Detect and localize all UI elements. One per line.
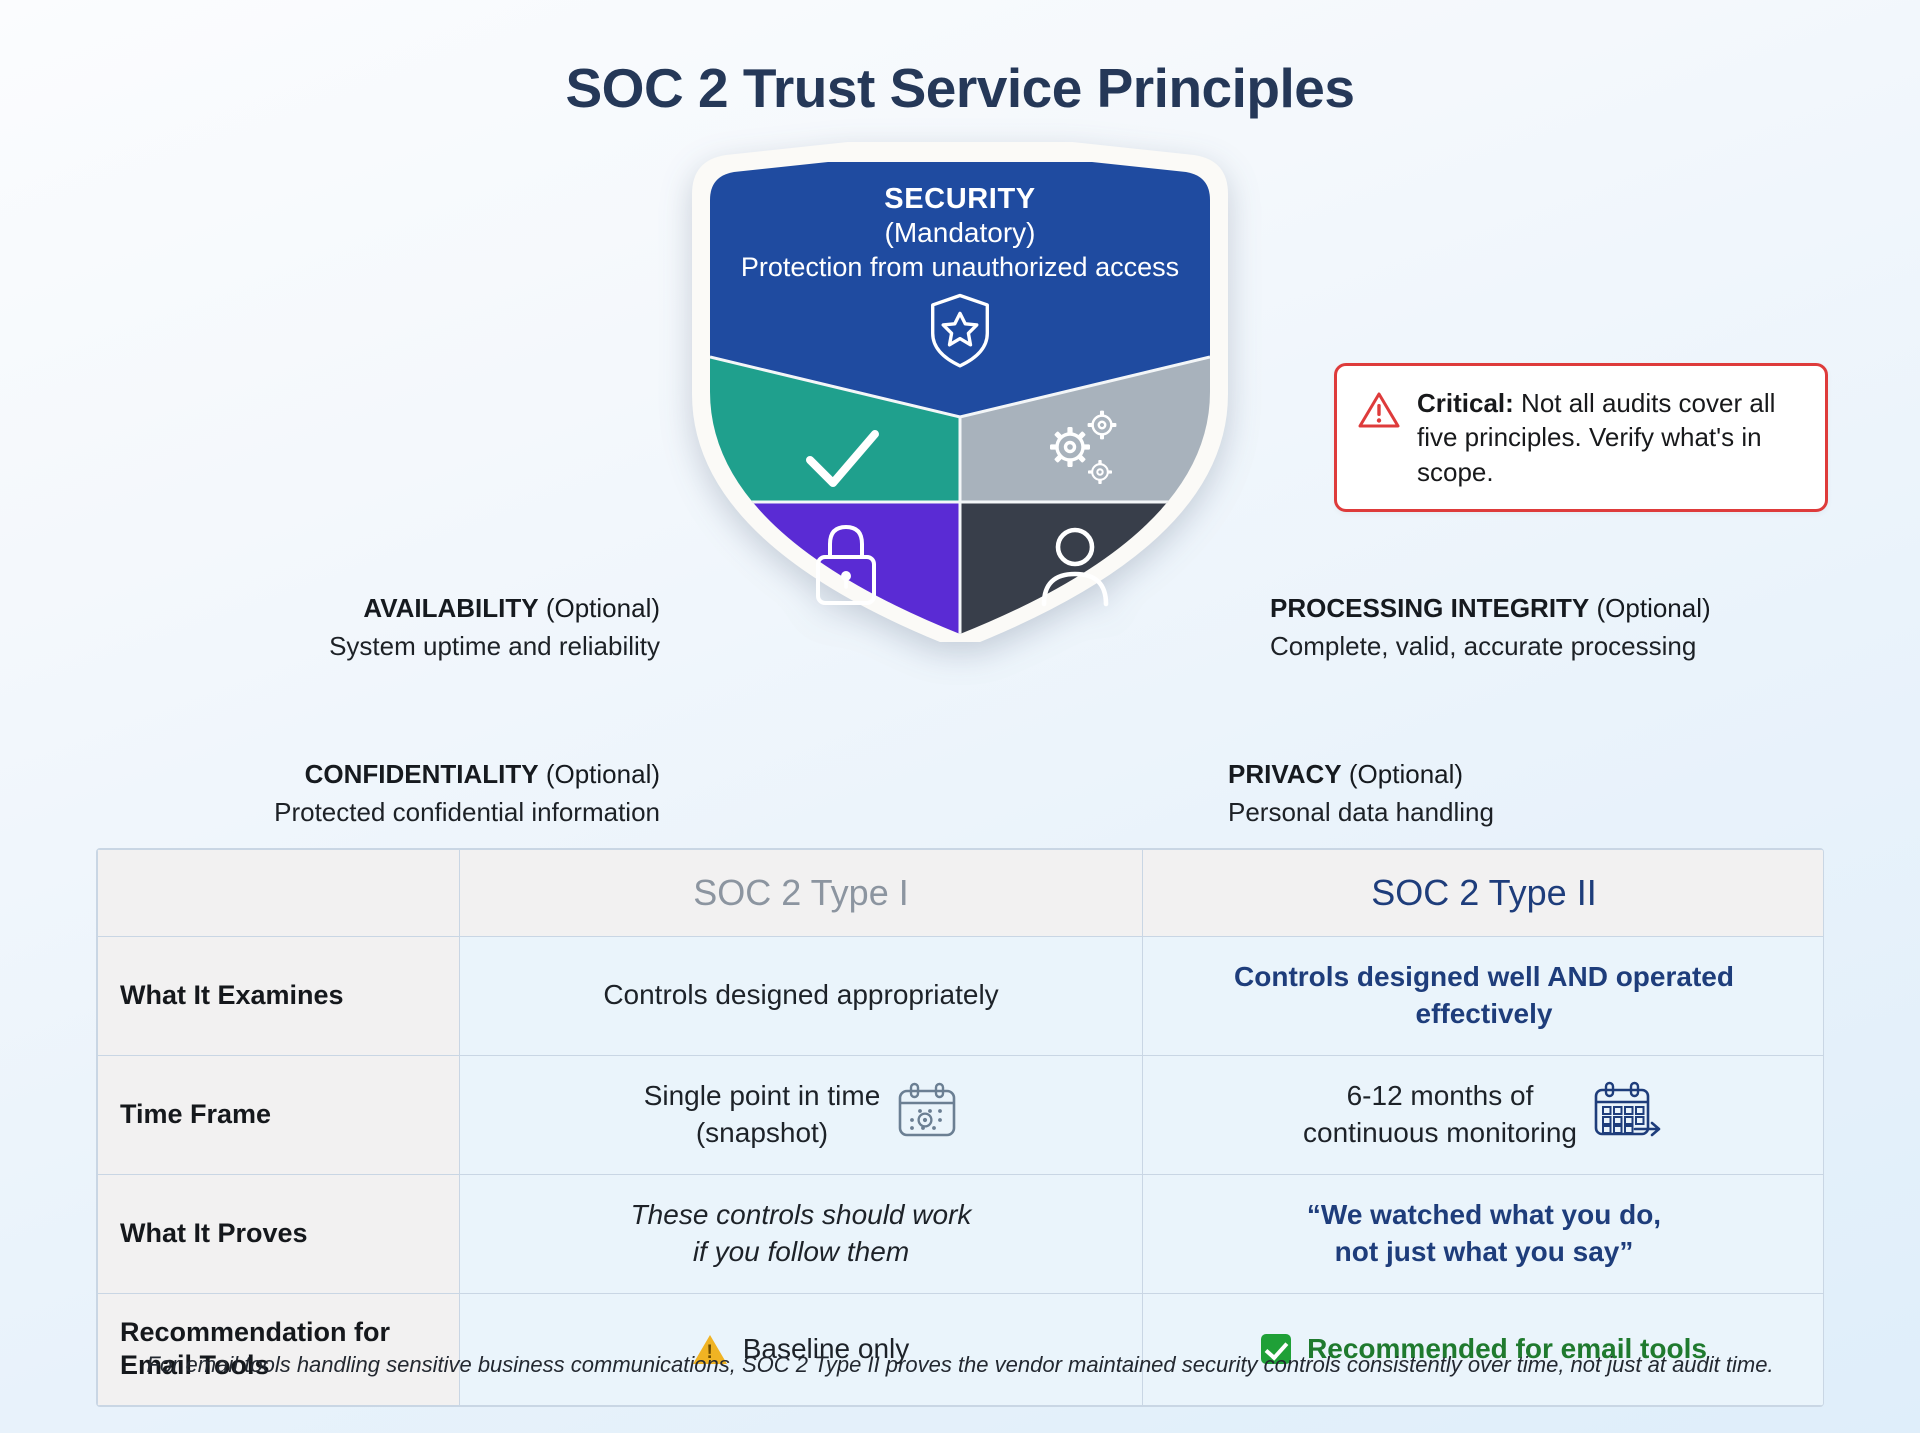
caption-privacy-name: PRIVACY [1228, 759, 1342, 789]
shield-diagram: SECURITY (Mandatory) Protection from una… [670, 142, 1250, 642]
caption-availability-description: System uptime and reliability [120, 630, 660, 663]
caption-processing-head: PROCESSING INTEGRITY (Optional) [1270, 592, 1870, 625]
cell-type2-what-it-examines: Controls designed well AND operated effe… [1143, 937, 1825, 1056]
caption-availability: AVAILABILITY (Optional) System uptime an… [120, 592, 660, 663]
cell-type1-time-frame-text: Single point in time (snapshot) [644, 1078, 881, 1152]
cell-type2-recommendation: Recommended for email tools [1143, 1293, 1825, 1406]
critical-callout: Critical: Not all audits cover all five … [1334, 363, 1828, 512]
row-label-recommendation: Recommendation for Email Tools [98, 1293, 460, 1406]
caption-privacy-head: PRIVACY (Optional) [1228, 758, 1788, 791]
warning-triangle-icon [1357, 390, 1401, 435]
cell-type1-what-it-proves: These controls should work if you follow… [460, 1174, 1143, 1293]
footer-note: For email tools handling sensitive busin… [96, 1352, 1824, 1378]
shield-graphic [670, 142, 1250, 642]
comparison-table-container: SOC 2 Type I SOC 2 Type II What It Exami… [96, 848, 1824, 1407]
calendar-range-arrow-icon [1593, 1080, 1665, 1150]
table-header-blank [98, 850, 460, 937]
cell-type1-recommendation: Baseline only [460, 1293, 1143, 1406]
calendar-day-icon [896, 1081, 958, 1149]
cell-type2-time-frame: 6-12 months of continuous monitoring [1143, 1055, 1825, 1174]
caption-privacy: PRIVACY (Optional) Personal data handlin… [1228, 758, 1788, 829]
comparison-table: SOC 2 Type I SOC 2 Type II What It Exami… [97, 849, 1824, 1406]
caption-privacy-description: Personal data handling [1228, 796, 1788, 829]
row-label-what-it-examines: What It Examines [98, 937, 460, 1056]
caption-confidentiality-name: CONFIDENTIALITY [305, 759, 539, 789]
row-label-what-it-proves: What It Proves [98, 1174, 460, 1293]
critical-text: Critical: Not all audits cover all five … [1417, 386, 1803, 489]
table-row: What It Proves These controls should wor… [98, 1174, 1825, 1293]
cell-type1-what-it-examines: Controls designed appropriately [460, 937, 1143, 1056]
table-header-type-1: SOC 2 Type I [460, 850, 1143, 937]
caption-availability-name: AVAILABILITY [363, 593, 538, 623]
caption-processing-name: PROCESSING INTEGRITY [1270, 593, 1589, 623]
caption-processing-integrity: PROCESSING INTEGRITY (Optional) Complete… [1270, 592, 1870, 663]
table-header-type-2: SOC 2 Type II [1143, 850, 1825, 937]
cell-type1-time-frame: Single point in time (snapshot) [460, 1055, 1143, 1174]
caption-privacy-qualifier: (Optional) [1349, 759, 1463, 789]
caption-processing-qualifier: (Optional) [1597, 593, 1711, 623]
table-row: Time Frame Single point in time (snapsho… [98, 1055, 1825, 1174]
table-header-row: SOC 2 Type I SOC 2 Type II [98, 850, 1825, 937]
cell-type2-what-it-proves: “We watched what you do, not just what y… [1143, 1174, 1825, 1293]
critical-label: Critical: [1417, 388, 1514, 418]
table-row: What It Examines Controls designed appro… [98, 937, 1825, 1056]
caption-confidentiality: CONFIDENTIALITY (Optional) Protected con… [100, 758, 660, 829]
caption-availability-qualifier: (Optional) [546, 593, 660, 623]
caption-confidentiality-description: Protected confidential information [100, 796, 660, 829]
caption-confidentiality-qualifier: (Optional) [546, 759, 660, 789]
cell-type2-time-frame-text: 6-12 months of continuous monitoring [1303, 1078, 1577, 1152]
caption-processing-description: Complete, valid, accurate processing [1270, 630, 1870, 663]
table-row: Recommendation for Email Tools Baseline … [98, 1293, 1825, 1406]
caption-confidentiality-head: CONFIDENTIALITY (Optional) [100, 758, 660, 791]
row-label-time-frame: Time Frame [98, 1055, 460, 1174]
hero-section: SECURITY (Mandatory) Protection from una… [0, 120, 1920, 650]
caption-availability-head: AVAILABILITY (Optional) [120, 592, 660, 625]
page-title: SOC 2 Trust Service Principles [0, 0, 1920, 120]
